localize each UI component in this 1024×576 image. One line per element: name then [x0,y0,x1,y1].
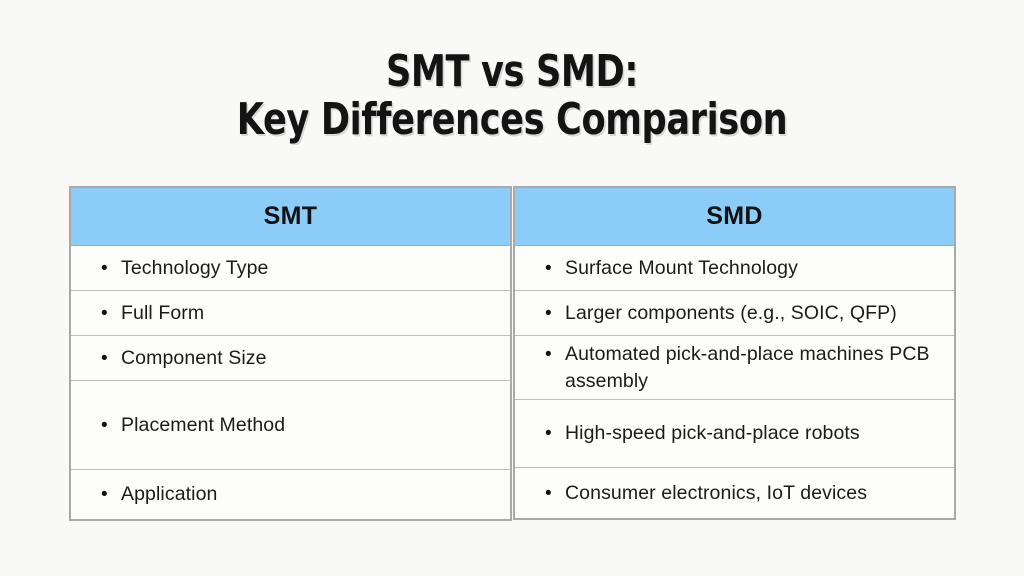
cell-text: Placement Method [121,412,496,439]
title-line-2: Key Differences Comparison [102,96,921,144]
cell-text: Surface Mount Technology [565,255,940,282]
bullet-icon: • [101,481,121,508]
page-title: SMT vs SMD: Key Differences Comparison [0,48,1024,144]
table-row: • Larger components (e.g., SOIC, QFP) [515,291,954,336]
column-header-smt: SMT [71,188,510,246]
table-row: • Consumer electronics, IoT devices [515,468,954,518]
table-row: • Component Size [71,336,510,381]
bullet-icon: • [101,345,121,372]
bullet-icon: • [101,412,121,439]
column-header-smd: SMD [515,188,954,246]
cell-text: Technology Type [121,255,496,282]
cell-text: Component Size [121,345,496,372]
bullet-icon: • [101,300,121,327]
table-row: • Surface Mount Technology [515,246,954,291]
cell-text: Consumer electronics, IoT devices [565,480,940,507]
slide-canvas: SMT vs SMD: Key Differences Comparison S… [0,0,1024,576]
bullet-icon: • [101,255,121,282]
cell-text: Application [121,481,496,508]
table-row: • Automated pick-and-place machines PCB … [515,336,954,400]
bullet-icon: • [545,300,565,327]
bullet-icon: • [545,255,565,282]
table-row: • Technology Type [71,246,510,291]
cell-text: Larger components (e.g., SOIC, QFP) [565,300,940,327]
table-row: • Full Form [71,291,510,336]
comparison-table: SMT • Technology Type • Full Form • Comp… [69,186,956,519]
table-row: • Application [71,470,510,519]
bullet-icon: • [545,341,565,368]
cell-text: High-speed pick-and-place robots [565,420,940,447]
cell-text: Full Form [121,300,496,327]
bullet-icon: • [545,420,565,447]
table-row: • Placement Method [71,381,510,470]
table-column-smd: SMD • Surface Mount Technology • Larger … [513,186,956,520]
table-column-smt: SMT • Technology Type • Full Form • Comp… [69,186,512,521]
cell-text: Automated pick-and-place machines PCB as… [565,341,940,395]
bullet-icon: • [545,480,565,507]
table-row: • High-speed pick-and-place robots [515,400,954,468]
title-line-1: SMT vs SMD: [102,48,921,96]
